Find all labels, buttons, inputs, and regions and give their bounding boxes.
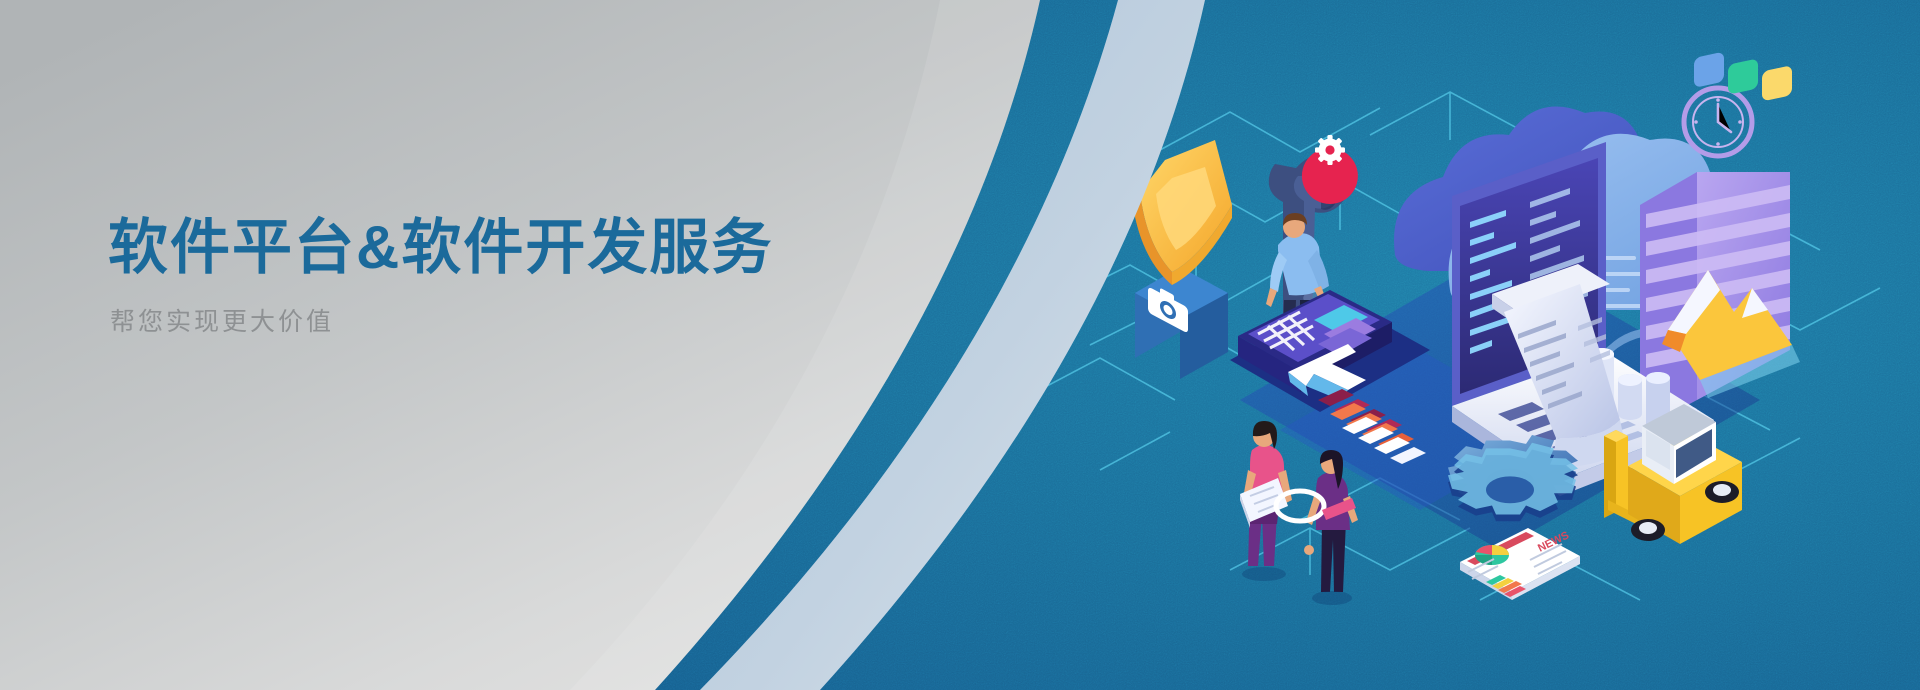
news-report-card: NEWS (1460, 528, 1580, 600)
illustration-isometric-scene: NEWS (0, 0, 1920, 690)
camera-icon (1135, 267, 1228, 379)
woman-with-magnifier (1276, 450, 1358, 605)
page-title: 软件平台&软件开发服务 (108, 218, 773, 278)
gear-badge-icon (1302, 135, 1358, 204)
hero-banner: NEWS (0, 0, 1920, 690)
clock-icon (1684, 88, 1752, 156)
news-card-pie-chart (1475, 545, 1509, 565)
page-subtitle: 帮您实现更大价值 (110, 310, 334, 335)
woman-with-document (1240, 421, 1292, 581)
dashboard-tiles (1694, 52, 1792, 102)
shield-icon (1132, 140, 1232, 285)
